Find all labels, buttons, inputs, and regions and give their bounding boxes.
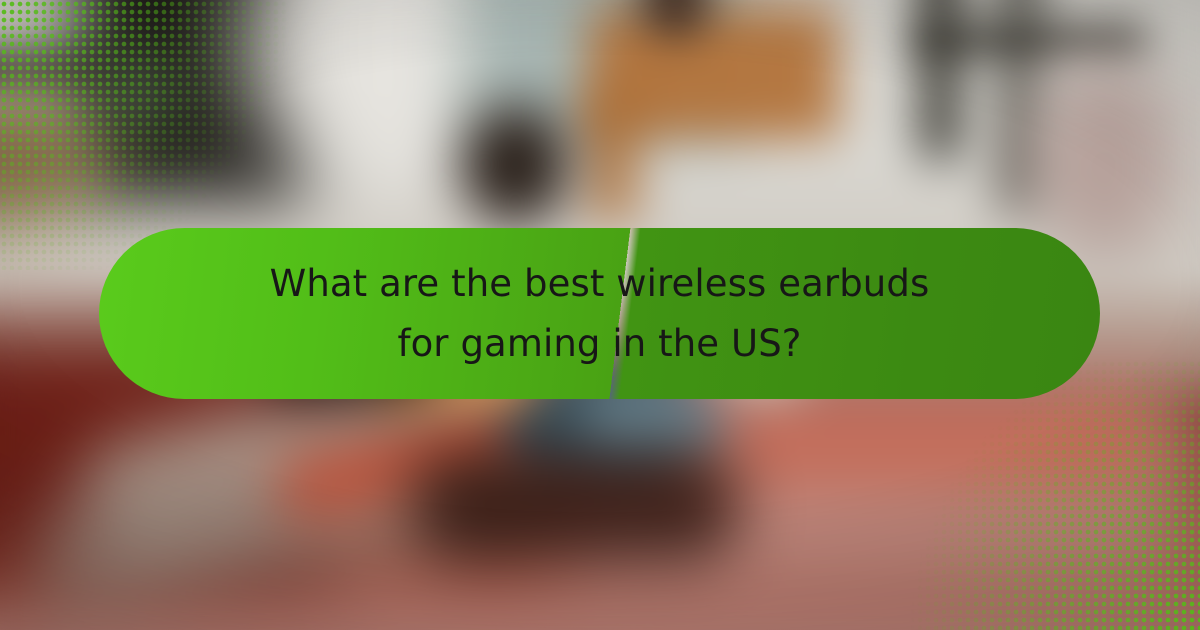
title-pill: What are the best wireless earbuds for g…: [99, 228, 1100, 399]
blurred-shadow: [410, 450, 740, 560]
blurred-shelf-right: [920, 0, 960, 160]
blurred-console-leg: [588, 90, 636, 220]
page-title: What are the best wireless earbuds for g…: [250, 254, 950, 374]
blurred-seated-person-head: [460, 105, 570, 225]
blurred-plant-left: [100, 50, 180, 140]
blurred-shelf-bar: [915, 26, 1145, 52]
share-card: What are the best wireless earbuds for g…: [0, 0, 1200, 630]
blurred-plant-right: [1030, 60, 1180, 260]
